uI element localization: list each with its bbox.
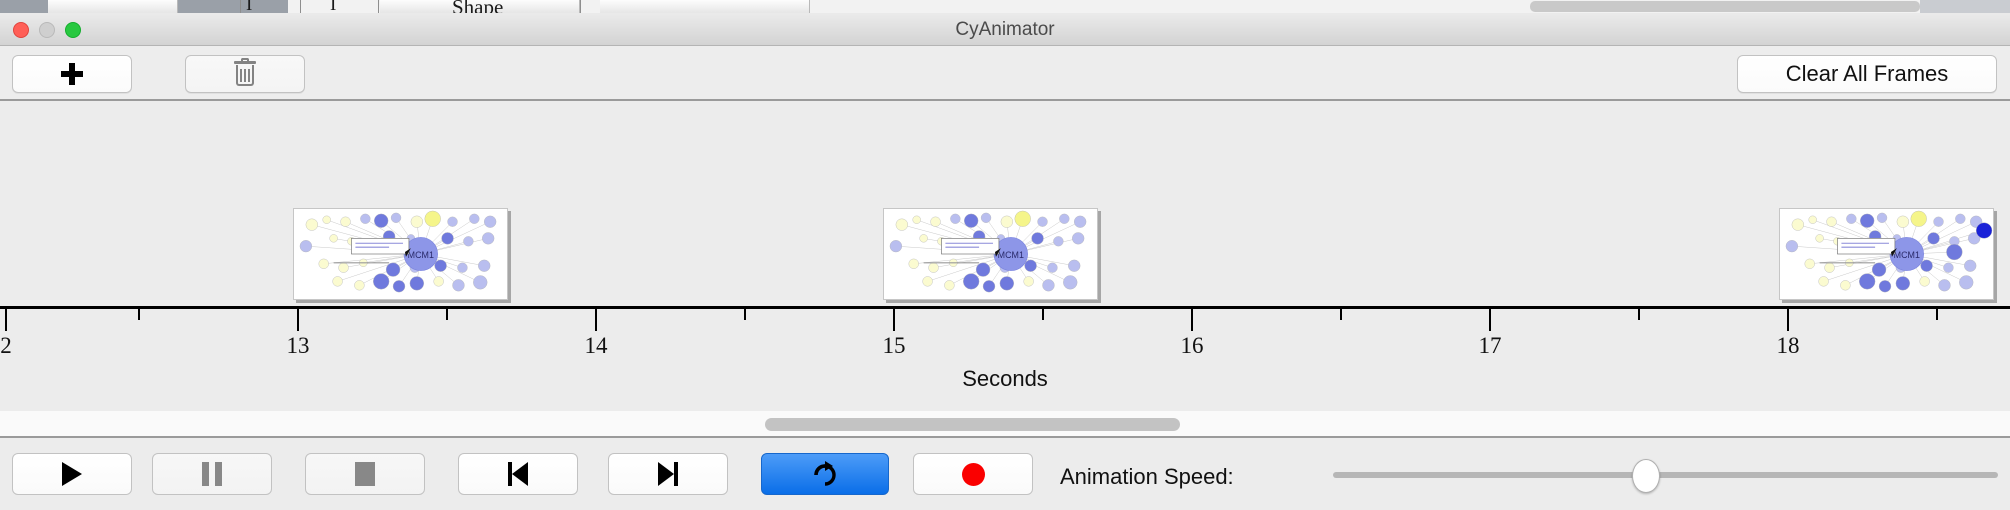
timeline-tick-major (5, 309, 7, 331)
loop-icon (810, 459, 840, 489)
background-corner (1920, 0, 2010, 13)
playback-bar: Animation Speed: (0, 438, 2010, 510)
animation-speed-label: Animation Speed: (1060, 464, 1234, 490)
background-tab-fragment (600, 0, 810, 13)
timeline-tick-major (595, 309, 597, 331)
skip-to-start-icon (508, 462, 528, 486)
pause-button[interactable] (152, 453, 272, 495)
timeline-tick-minor (744, 309, 746, 320)
timeline-tick-major (297, 309, 299, 331)
skip-to-start-button[interactable] (458, 453, 578, 495)
timeline-frame[interactable]: MCM1 (883, 208, 1098, 300)
play-icon (62, 462, 82, 486)
background-glyph-a: I (246, 0, 252, 13)
timeline-frame[interactable]: MCM1 (1779, 208, 1994, 300)
scrollbar-thumb[interactable] (765, 418, 1180, 431)
timeline-tick-label: 14 (585, 333, 608, 359)
timeline-tick-label: 17 (1479, 333, 1502, 359)
add-frame-button[interactable] (12, 55, 132, 93)
plus-icon (60, 62, 84, 86)
record-icon (962, 463, 985, 486)
loop-toggle-button[interactable] (761, 453, 889, 495)
timeline-tick-label: 2 (0, 333, 12, 359)
background-tab-fragment (48, 0, 178, 13)
timeline-tick-label: 15 (883, 333, 906, 359)
timeline-axis-line (0, 306, 2010, 309)
background-divider (300, 0, 301, 13)
play-button[interactable] (12, 453, 132, 495)
clear-all-frames-label: Clear All Frames (1786, 61, 1949, 87)
stop-icon (355, 462, 375, 486)
timeline-tick-major (893, 309, 895, 331)
timeline-tick-minor (1340, 309, 1342, 320)
delete-frame-button[interactable] (185, 55, 305, 93)
timeline-tick-minor (1936, 309, 1938, 320)
svg-text:MCM1: MCM1 (1894, 250, 1920, 260)
background-divider (378, 0, 379, 13)
timeline-tick-label: 18 (1777, 333, 1800, 359)
background-divider (240, 0, 241, 13)
title-bar: CyAnimator (0, 13, 2010, 46)
trash-icon (234, 61, 256, 87)
clear-all-frames-button[interactable]: Clear All Frames (1737, 55, 1997, 93)
axis-title: Seconds (0, 366, 2010, 392)
timeline-tick-major (1787, 309, 1789, 331)
timeline-tick-major (1191, 309, 1193, 331)
timeline-frame[interactable]: MCM1 (293, 208, 508, 300)
timeline-tick-label: 13 (287, 333, 310, 359)
timeline-tick-minor (138, 309, 140, 320)
svg-text:MCM1: MCM1 (998, 250, 1024, 260)
background-window-strip: I I Shape (0, 0, 2010, 13)
timeline-tick-label: 16 (1181, 333, 1204, 359)
background-titlebar-fragment (0, 0, 48, 13)
background-divider (580, 0, 581, 13)
timeline-tick-minor (1638, 309, 1640, 320)
timeline-tick-major (1489, 309, 1491, 331)
timeline-scrollbar[interactable] (0, 411, 2010, 438)
pause-icon (202, 462, 222, 486)
background-window-label: Shape (452, 0, 503, 13)
record-button[interactable] (913, 453, 1033, 495)
skip-to-end-icon (658, 462, 678, 486)
background-glyph-b: I (330, 0, 336, 13)
skip-to-end-button[interactable] (608, 453, 728, 495)
animation-speed-thumb[interactable] (1632, 459, 1660, 493)
background-selected-tab (178, 0, 288, 13)
timeline-tick-minor (1042, 309, 1044, 320)
timeline-tick-minor (446, 309, 448, 320)
timeline-panel[interactable]: MCM1MCM1MCM1 2131415161718 Seconds (0, 101, 2010, 411)
background-scrollbar (1530, 1, 1920, 12)
animation-speed-slider[interactable] (1333, 472, 1998, 478)
window-title: CyAnimator (0, 13, 2010, 46)
svg-text:MCM1: MCM1 (408, 250, 434, 260)
stop-button[interactable] (305, 453, 425, 495)
